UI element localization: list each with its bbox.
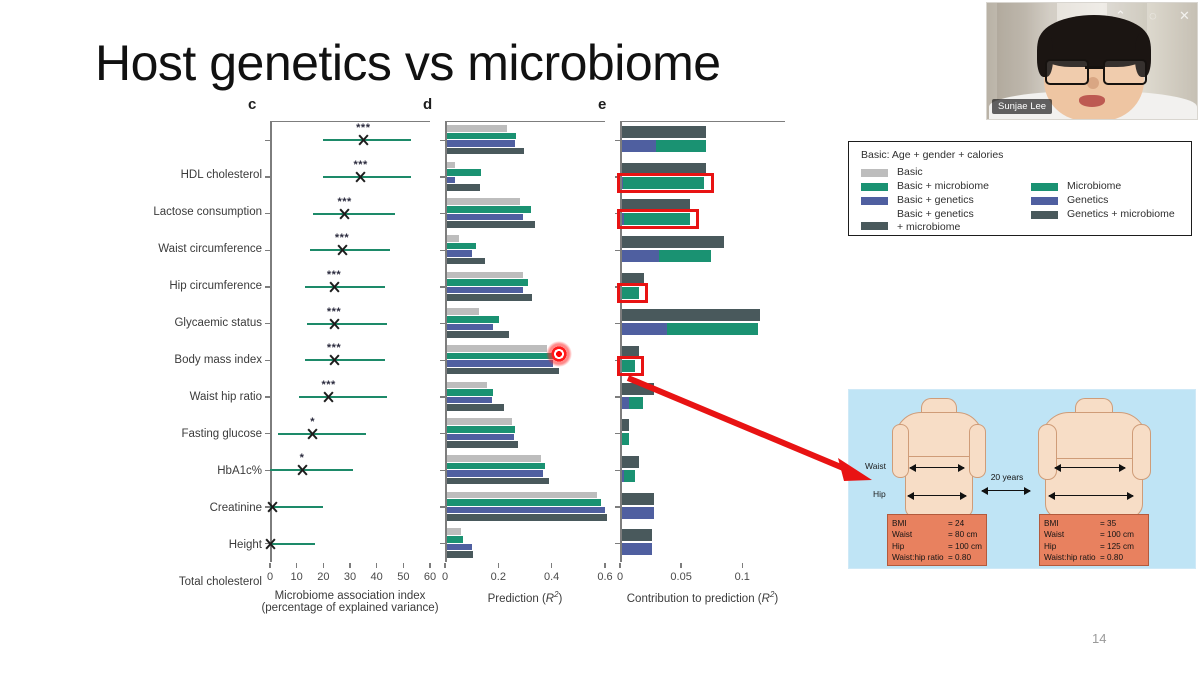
x-axis-tick-label: 0.1: [735, 571, 750, 583]
presentation-slide: Host genetics vs microbiome c d e HDL ch…: [0, 0, 1200, 675]
page-title: Host genetics vs microbiome: [95, 34, 721, 92]
confidence-interval-line: [305, 359, 385, 361]
prediction-bar: [447, 544, 472, 551]
confidence-interval-line: [305, 286, 385, 288]
row-label-fasting-glucose: Fasting glucose: [181, 427, 262, 441]
stat-value: = 24: [948, 519, 964, 528]
row-label-glycaemic-status: Glycaemic status: [174, 316, 262, 330]
significance-stars: ***: [356, 124, 370, 132]
contribution-bar-microbiome: [629, 397, 644, 409]
contribution-bar-genetics: [622, 323, 668, 335]
contribution-bar-genetics: [622, 397, 629, 409]
glasses-lens-left: [1045, 59, 1089, 85]
participant-name-badge: Sunjae Lee: [992, 99, 1052, 114]
contribution-bar-combined: [622, 529, 653, 541]
stat-line: Waist= 80 cm: [892, 529, 982, 540]
legend-item-basic: Basic: [861, 166, 1191, 180]
data-point-marker: [306, 427, 319, 440]
row-label-body-mass-index: Body mass index: [174, 353, 262, 367]
x-axis-tick-label: 60: [424, 571, 436, 583]
prediction-bar: [447, 507, 606, 514]
y-axis-tick: [265, 140, 270, 141]
confidence-interval-line: [310, 249, 390, 251]
panel-c-y-axis: [270, 122, 272, 562]
data-point-marker: [328, 281, 341, 294]
panel-e-plot-area: [620, 122, 785, 562]
legend-row-microbiome: Basic + microbiome Microbiome: [861, 180, 1191, 194]
y-axis-tick: [615, 433, 620, 434]
stat-value: = 0.80: [948, 553, 971, 562]
x-axis-tick: [551, 563, 552, 568]
stat-line: Hip= 125 cm: [1044, 541, 1144, 552]
contribution-bar-microbiome: [667, 323, 757, 335]
y-axis-tick: [265, 250, 270, 251]
x-axis-tick: [296, 563, 297, 568]
x-axis-tick: [269, 563, 270, 568]
contribution-bar-combined: [622, 456, 639, 468]
row-label-hba1c: HbA1c%: [217, 464, 262, 478]
contribution-bar-genetics: [622, 250, 659, 262]
confidence-interval-line: [270, 543, 315, 545]
prediction-bar: [447, 331, 510, 338]
prediction-bar: [447, 206, 531, 213]
significance-stars: ***: [335, 234, 349, 242]
stat-value: = 125 cm: [1100, 542, 1134, 551]
stat-line: Waist:hip ratio= 0.80: [892, 552, 982, 563]
x-axis-tick: [349, 563, 350, 568]
highlight-box: [617, 173, 714, 193]
contribution-bar-combined: [622, 309, 761, 321]
contribution-bar-combined: [622, 126, 707, 138]
y-axis-tick: [615, 323, 620, 324]
stat-line: Waist:hip ratio= 0.80: [1044, 552, 1144, 563]
prediction-bar: [447, 324, 494, 331]
prediction-bar: [447, 133, 516, 140]
panel-d-plot-area: [445, 122, 605, 562]
confidence-interval-line: [323, 176, 411, 178]
data-point-marker: [296, 464, 309, 477]
figure-container: c d e HDL cholesterol Lactose consumptio…: [130, 96, 810, 641]
data-point-marker: [354, 171, 367, 184]
contribution-bar-genetics: [622, 507, 654, 519]
prediction-bar: [447, 514, 607, 521]
prediction-bar: [447, 250, 472, 257]
glasses-icon: [1045, 59, 1145, 81]
prediction-bar: [447, 397, 493, 404]
prediction-bar: [447, 140, 516, 147]
highlight-box: [617, 283, 648, 303]
y-axis-tick: [265, 213, 270, 214]
stat-key: Waist: [1044, 529, 1100, 540]
confidence-interval-line: [278, 433, 366, 435]
panel-letter-e: e: [598, 96, 606, 113]
legend-label-microbiome: Microbiome: [1067, 180, 1121, 193]
prediction-bar: [447, 125, 507, 132]
stat-key: BMI: [892, 518, 948, 529]
data-point-marker: [328, 317, 341, 330]
x-axis-tick: [403, 563, 404, 568]
stat-value: = 0.80: [1100, 553, 1123, 562]
x-axis-tick: [429, 563, 430, 568]
prediction-bar: [447, 345, 547, 352]
contribution-bar-genetics: [622, 543, 653, 555]
contribution-bar-microbiome: [659, 250, 712, 262]
y-axis-tick: [440, 396, 445, 397]
row-label-total-cholesterol: Total cholesterol: [179, 575, 262, 589]
contribution-bar-combined: [622, 419, 630, 431]
panel-c-plot-area: **************************: [270, 122, 430, 562]
mouse-click-indicator: [546, 341, 572, 367]
stat-value: = 100 cm: [948, 542, 982, 551]
prediction-bar: [447, 441, 518, 448]
prediction-bar: [447, 162, 455, 169]
prediction-bar: [447, 418, 512, 425]
stat-key: Waist:hip ratio: [892, 552, 948, 563]
row-label-waist-circumference: Waist circumference: [158, 242, 262, 256]
contribution-bar-combined: [622, 383, 654, 395]
row-label-creatinine: Creatinine: [210, 501, 262, 515]
y-axis-tick: [440, 140, 445, 141]
stat-key: Waist: [892, 529, 948, 540]
x-axis-tick-label: 0.6: [597, 571, 612, 583]
y-axis-tick: [440, 323, 445, 324]
prediction-bar: [447, 308, 479, 315]
hip-label: Hip: [873, 489, 886, 499]
more-icon[interactable]: ◌: [1149, 9, 1157, 22]
x-axis-tick: [376, 563, 377, 568]
stats-box-heavy: BMI= 35Waist= 100 cmHip= 125 cmWaist:hip…: [1039, 514, 1149, 566]
x-axis-tick: [680, 563, 681, 568]
contribution-bar-combined: [622, 236, 725, 248]
prediction-bar: [447, 198, 520, 205]
significance-stars: ***: [321, 381, 335, 389]
y-axis-tick: [440, 506, 445, 507]
legend-swatch-basic-microbiome: [861, 183, 888, 191]
prediction-bar: [447, 258, 486, 265]
panel-letter-c: c: [248, 96, 256, 113]
legend-swatch-basic-genetics: [861, 197, 888, 205]
x-axis-tick-label: 40: [371, 571, 383, 583]
legend-lead-text: Basic: Age + gender + calories: [861, 149, 1191, 161]
transition-label: 20 years: [977, 472, 1037, 482]
x-axis-tick-label: 0: [617, 571, 623, 583]
legend-swatch-genetics: [1031, 197, 1058, 205]
stat-value: = 80 cm: [948, 530, 977, 539]
data-point-marker: [338, 207, 351, 220]
stat-value: = 35: [1100, 519, 1116, 528]
prediction-bar: [447, 279, 528, 286]
prediction-bar: [447, 368, 559, 375]
stat-line: BMI= 24: [892, 518, 982, 529]
confidence-interval-line: [299, 396, 387, 398]
webcam-video-overlay[interactable]: ⌃ ◌ ✕ Sunjae Lee: [986, 2, 1198, 120]
row-label-height: Height: [229, 538, 262, 552]
data-point-marker: [357, 134, 370, 147]
legend-swatch-microbiome: [1031, 183, 1058, 191]
legend-swatch-genetics-microbiome: [1031, 211, 1058, 219]
prediction-bar: [447, 463, 546, 470]
prediction-bar: [447, 455, 542, 462]
stats-box-thin: BMI= 24Waist= 80 cmHip= 100 cmWaist:hip …: [887, 514, 987, 566]
contribution-bar-microbiome: [622, 433, 629, 445]
legend-label-basic-microbiome: Basic + microbiome: [897, 180, 989, 193]
y-axis-tick: [615, 250, 620, 251]
significance-stars: ***: [327, 271, 341, 279]
x-axis-tick-label: 10: [291, 571, 303, 583]
confidence-interval-line: [307, 323, 387, 325]
y-axis-tick: [440, 213, 445, 214]
y-axis-tick: [265, 286, 270, 287]
legend-row-genetics: Basic + genetics Genetics: [861, 194, 1191, 208]
y-axis-tick: [615, 543, 620, 544]
x-axis-tick: [323, 563, 324, 568]
stat-line: Waist= 100 cm: [1044, 529, 1144, 540]
contribution-bar-microbiome: [656, 140, 706, 152]
highlight-box: [617, 356, 644, 376]
x-axis-tick-label: 0.4: [544, 571, 559, 583]
prediction-bar: [447, 287, 524, 294]
stat-key: Hip: [892, 541, 948, 552]
panel-d-x-axis: [445, 121, 605, 122]
y-axis-tick: [440, 176, 445, 177]
prediction-bar: [447, 148, 524, 155]
prediction-bar: [447, 478, 550, 485]
prediction-bar: [447, 294, 532, 301]
y-axis-tick: [265, 360, 270, 361]
stat-line: BMI= 35: [1044, 518, 1144, 529]
row-label-lactose-consumption: Lactose consumption: [153, 205, 262, 219]
row-label-hdl-cholesterol: HDL cholesterol: [181, 168, 262, 182]
prediction-bar: [447, 470, 544, 477]
stat-key: Hip: [1044, 541, 1100, 552]
stat-key: Waist:hip ratio: [1044, 552, 1100, 563]
significance-stars: ***: [327, 308, 341, 316]
legend-box: Basic: Age + gender + calories Basic Bas…: [848, 141, 1192, 236]
significance-stars: ***: [327, 344, 341, 352]
y-axis-tick: [440, 250, 445, 251]
panel-letter-d: d: [423, 96, 432, 113]
x-axis-tick-label: 0.2: [491, 571, 506, 583]
legend-label-basic: Basic: [897, 166, 923, 179]
y-axis-tick: [440, 470, 445, 471]
data-point-marker: [266, 501, 279, 514]
panel-c-x-axis: [270, 121, 430, 122]
y-axis-tick: [615, 470, 620, 471]
x-axis-tick-label: 0: [442, 571, 448, 583]
minimize-icon[interactable]: ⌃: [1115, 9, 1126, 22]
prediction-bar: [447, 360, 554, 367]
x-axis-tick-label: 50: [397, 571, 409, 583]
contribution-bar-genetics: [622, 140, 656, 152]
glasses-bridge: [1085, 66, 1103, 69]
stat-line: Hip= 100 cm: [892, 541, 982, 552]
prediction-bar: [447, 434, 514, 441]
prediction-bar: [447, 316, 499, 323]
legend-swatch-basic-genetics-microbiome: [861, 222, 888, 230]
stat-key: BMI: [1044, 518, 1100, 529]
significance-stars: *: [300, 454, 305, 462]
prediction-bar: [447, 389, 494, 396]
prediction-bar: [447, 404, 504, 411]
x-axis-tick: [742, 563, 743, 568]
row-label-waist-hip-ratio: Waist hip ratio: [190, 390, 262, 404]
legend-label-genetics-microbiome: Genetics + microbiome: [1067, 208, 1175, 221]
prediction-bar: [447, 235, 459, 242]
x-axis-tick: [604, 563, 605, 568]
y-axis-tick: [265, 323, 270, 324]
x-axis-tick-label: 20: [317, 571, 329, 583]
waist-label: Waist: [865, 461, 886, 471]
x-axis-tick: [444, 563, 445, 568]
y-axis-tick: [265, 176, 270, 177]
prediction-bar: [447, 214, 523, 221]
panel-e-x-axis: [620, 121, 785, 122]
prediction-bar: [447, 184, 480, 191]
significance-stars: *: [310, 418, 315, 426]
x-axis-tick-label: 30: [344, 571, 356, 583]
prediction-bar: [447, 382, 487, 389]
legend-row-genetics-microbiome: Basic + genetics + microbiome Genetics +…: [861, 208, 1191, 234]
x-axis-tick: [619, 563, 620, 568]
y-axis-tick: [440, 433, 445, 434]
prediction-bar: [447, 272, 523, 279]
contribution-bar-combined: [622, 493, 654, 505]
y-axis-tick: [265, 433, 270, 434]
panel-c-axis-title: Microbiome association index (percentage…: [235, 590, 465, 614]
panel-e-axis-title: Contribution to prediction (R2): [603, 590, 803, 605]
stat-value: = 100 cm: [1100, 530, 1134, 539]
close-icon[interactable]: ✕: [1179, 9, 1190, 22]
prediction-bar: [447, 243, 476, 250]
page-number: 14: [1092, 631, 1106, 646]
x-axis-tick-label: 0.05: [670, 571, 691, 583]
waist-measure-arrow-thin: [910, 467, 964, 468]
data-point-marker: [328, 354, 341, 367]
prediction-bar: [447, 528, 462, 535]
prediction-bar: [447, 551, 473, 558]
body-figure-thin: [891, 398, 986, 526]
y-axis-tick: [440, 543, 445, 544]
y-axis-tick: [265, 396, 270, 397]
highlight-box: [617, 209, 699, 229]
hip-measure-arrow-heavy: [1049, 495, 1133, 496]
prediction-bar: [447, 536, 463, 543]
prediction-bar: [447, 499, 602, 506]
prediction-bar: [447, 169, 482, 176]
prediction-bar: [447, 177, 455, 184]
prediction-bar: [447, 426, 515, 433]
hip-measure-arrow-thin: [908, 495, 966, 496]
row-label-hip-circumference: Hip circumference: [169, 279, 262, 293]
confidence-interval-line: [313, 213, 396, 215]
waist-measure-arrow-heavy: [1055, 467, 1125, 468]
legend-label-basic-genetics-microbiome: Basic + genetics: [897, 208, 974, 221]
data-point-marker: [264, 537, 277, 550]
contribution-bar-microbiome: [624, 470, 634, 482]
glasses-lens-right: [1103, 59, 1147, 85]
data-point-marker: [336, 244, 349, 257]
waist-hip-ratio-diagram: Waist Hip 20 years BMI= 24Waist= 80 cmHi…: [848, 389, 1196, 569]
webcam-mouth: [1079, 95, 1105, 107]
legend-label-basic-genetics-microbiome-2: + microbiome: [897, 221, 960, 234]
y-axis-tick: [440, 286, 445, 287]
legend-swatch-basic: [861, 169, 888, 177]
prediction-bar: [447, 353, 555, 360]
y-axis-tick: [440, 360, 445, 361]
y-axis-tick: [615, 506, 620, 507]
data-point-marker: [322, 391, 335, 404]
confidence-interval-line: [270, 469, 353, 471]
legend-label-basic-genetics: Basic + genetics: [897, 194, 974, 207]
significance-stars: ***: [337, 198, 351, 206]
transition-arrow: [982, 490, 1030, 491]
panel-d-axis-title: Prediction (R2): [445, 590, 605, 605]
y-axis-tick: [615, 140, 620, 141]
prediction-bar: [447, 221, 535, 228]
body-figure-heavy: [1039, 398, 1149, 526]
significance-stars: ***: [353, 161, 367, 169]
y-axis-tick: [615, 396, 620, 397]
legend-label-genetics: Genetics: [1067, 194, 1108, 207]
prediction-bar: [447, 492, 598, 499]
x-axis-tick-label: 0: [267, 571, 273, 583]
x-axis-tick: [498, 563, 499, 568]
